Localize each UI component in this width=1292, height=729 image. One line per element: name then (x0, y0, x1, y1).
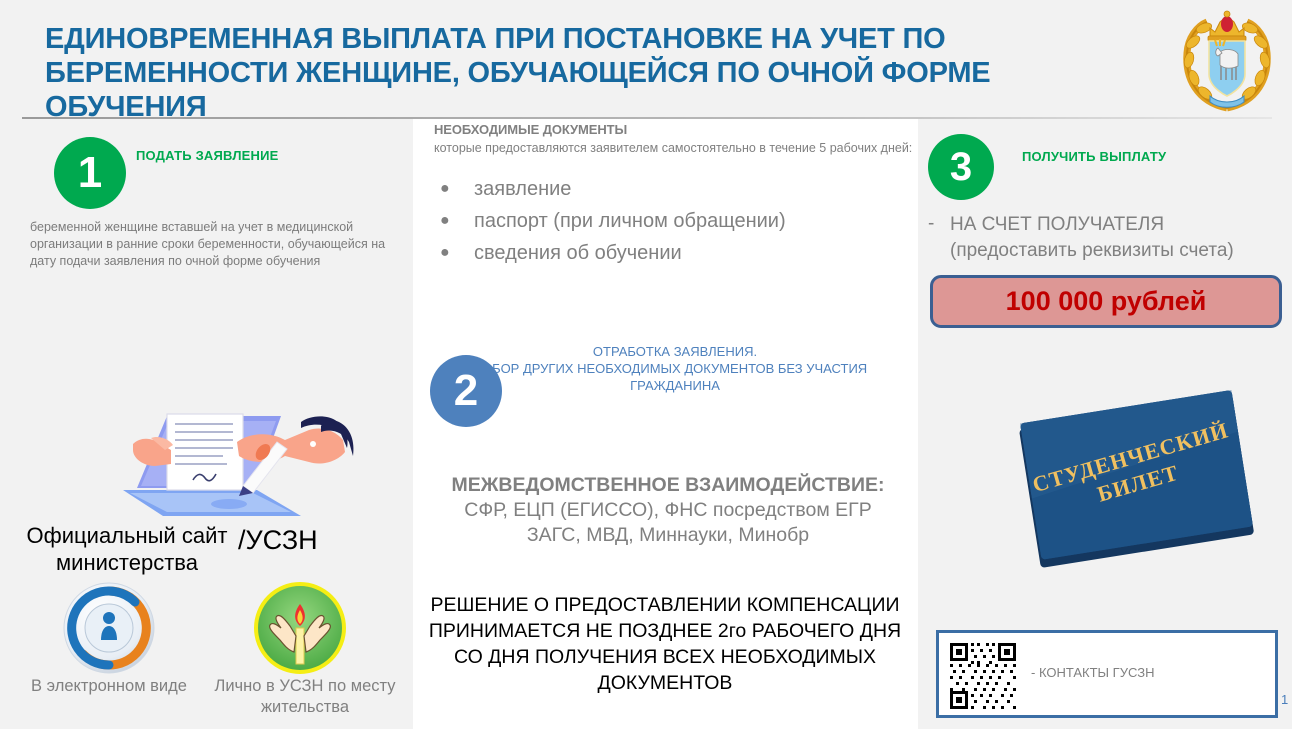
list-item: ● паспорт (при личном обращении) (434, 205, 904, 237)
documents-subtitle: которые предоставляются заявителем самос… (434, 140, 926, 157)
step-2-label: ОТРАБОТКА ЗАЯВЛЕНИЯ. СБОР ДРУГИХ НЕОБХОД… (440, 343, 910, 394)
step-3-badge: 3 (928, 134, 994, 200)
official-site-heading: Официальный сайт министерства (22, 522, 232, 576)
contacts-label: - КОНТАКТЫ ГУСЗН (1031, 665, 1154, 680)
interop-line-1: СФР, ЕЦП (ЕГИССО), ФНС посредством ЕГР (423, 498, 913, 523)
decision-text: РЕШЕНИЕ О ПРЕДОСТАВЛЕНИИ КОМПЕНСАЦИИ ПРИ… (413, 592, 917, 696)
documents-title: НЕОБХОДИМЫЕ ДОКУМЕНТЫ (434, 122, 627, 137)
slide-root: ЕДИНОВРЕМЕННАЯ ВЫПЛАТА ПРИ ПОСТАНОВКЕ НА… (0, 0, 1292, 729)
interop-line-2: ЗАГС, МВД, Миннауки, Минобр (423, 523, 913, 548)
page-number: 1 (1281, 692, 1288, 707)
payment-target-text: НА СЧЕТ ПОЛУЧАТЕЛЯ (предоставить реквизи… (950, 212, 1280, 264)
payment-dash-marker: - (928, 213, 934, 235)
step-2-label-line-3: ГРАЖДАНИНА (440, 377, 910, 394)
student-id-book-icon: СТУДЕНЧЕСКИЙ БИЛЕТ (1012, 378, 1260, 583)
bullet-icon: ● (440, 205, 450, 237)
step-2-badge: 2 (430, 355, 502, 427)
documents-list: ● заявление ● паспорт (при личном обраще… (434, 173, 904, 269)
step-3-label: ПОЛУЧИТЬ ВЫПЛАТУ (1022, 149, 1166, 164)
list-item: ● заявление (434, 173, 904, 205)
bullet-icon: ● (440, 237, 450, 269)
qr-code-icon[interactable] (947, 640, 1019, 712)
uszn-hands-flame-icon[interactable] (254, 582, 346, 674)
list-item-label: заявление (474, 178, 571, 200)
step-1-badge: 1 (54, 137, 126, 209)
list-item: ● сведения об обучении (434, 237, 904, 269)
step-1-description: беременной женщине вставшей на учет в ме… (30, 219, 406, 270)
contacts-box[interactable]: - КОНТАКТЫ ГУСЗН (936, 630, 1278, 718)
gov-portal-icon[interactable] (63, 582, 155, 674)
bullet-icon: ● (440, 173, 450, 205)
uszn-heading: /УСЗН (238, 525, 398, 555)
page-title: ЕДИНОВРЕМЕННАЯ ВЫПЛАТА ПРИ ПОСТАНОВКЕ НА… (45, 22, 1065, 124)
list-item-label: паспорт (при личном обращении) (474, 210, 786, 232)
amount-value: 100 000 рублей (1006, 286, 1207, 317)
interop-heading: МЕЖВЕДОМСТВЕННОЕ ВЗАИМОДЕЙСТВИЕ: (423, 473, 913, 498)
step-2-label-line-2: СБОР ДРУГИХ НЕОБХОДИМЫХ ДОКУМЕНТОВ БЕЗ У… (440, 360, 910, 377)
step-1-label: ПОДАТЬ ЗАЯВЛЕНИЕ (136, 148, 279, 163)
step-2-label-line-1: ОТРАБОТКА ЗАЯВЛЕНИЯ. (440, 343, 910, 360)
laptop-signing-document-icon (105, 392, 363, 532)
interop-block: МЕЖВЕДОМСТВЕННОЕ ВЗАИМОДЕЙСТВИЕ: СФР, ЕЦ… (423, 473, 913, 548)
samara-oblast-coat-of-arms-icon (1177, 8, 1277, 112)
gov-portal-caption: В электронном виде (26, 676, 192, 697)
uszn-caption: Лично в УСЗН по месту жительства (212, 676, 398, 718)
amount-badge: 100 000 рублей (930, 275, 1282, 328)
list-item-label: сведения об обучении (474, 242, 682, 264)
